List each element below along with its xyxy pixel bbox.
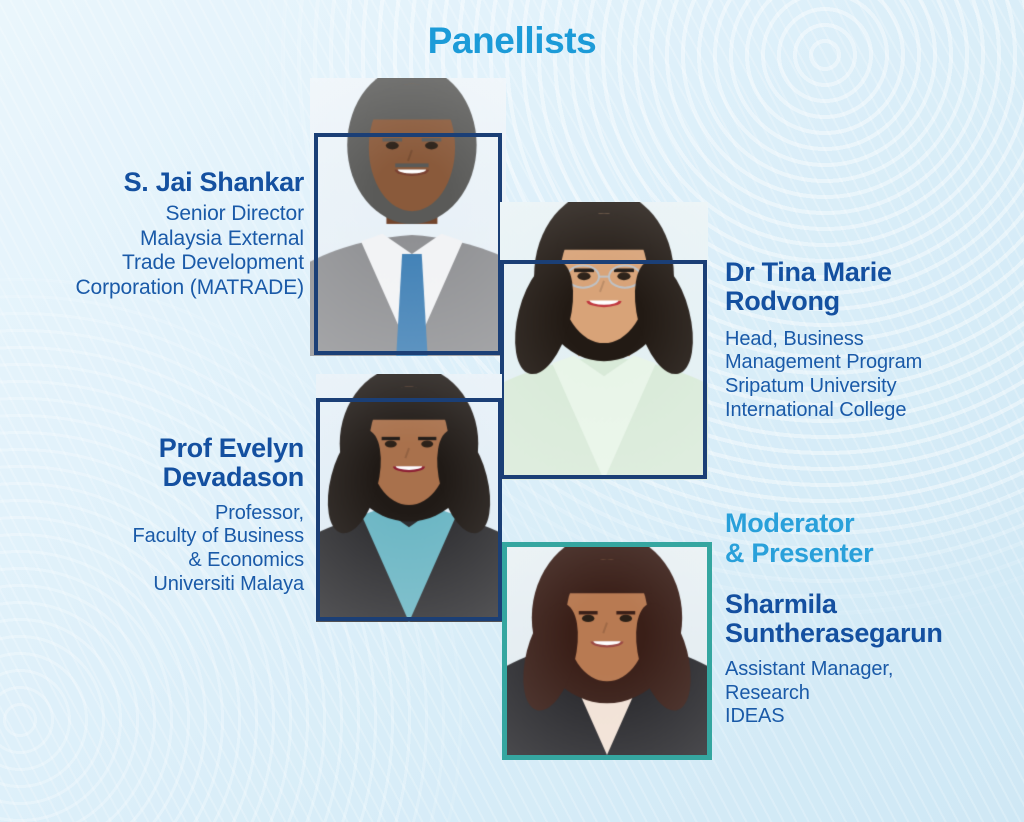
photo-frame-dr-tina-marie-rodvong (500, 260, 707, 479)
detail-line: Assistant Manager, (725, 658, 1020, 682)
role-line: Moderator (725, 509, 1020, 539)
name-line: Devadason (14, 463, 304, 492)
detail-line: Senior Director (14, 202, 304, 227)
detail-line: Sripatum University (725, 375, 1015, 399)
detail-line: International College (725, 399, 1015, 423)
name-line: Suntherasegarun (725, 619, 1020, 648)
panellist-name-s-jai-shankar: S. Jai Shankar (14, 168, 304, 197)
panellist-name-prof-evelyn-devadason: Prof Evelyn Devadason (14, 434, 304, 492)
detail-line: Faculty of Business (14, 525, 304, 549)
moderator-role-label: Moderator & Presenter (725, 509, 1020, 568)
bio-dr-tina-marie-rodvong: Dr Tina Marie Rodvong Head, Business Man… (725, 258, 1015, 422)
photo-frame-s-jai-shankar (314, 133, 502, 355)
role-line: & Presenter (725, 539, 1020, 569)
detail-line: Professor, (14, 502, 304, 526)
bio-prof-evelyn-devadason: Prof Evelyn Devadason Professor, Faculty… (14, 434, 304, 596)
detail-line: & Economics (14, 549, 304, 573)
moderator-name: Sharmila Suntherasegarun (725, 590, 1020, 648)
detail-line: Head, Business (725, 328, 1015, 352)
detail-line: Universiti Malaya (14, 573, 304, 597)
detail-line: Management Program (725, 351, 1015, 375)
detail-line: IDEAS (725, 705, 1020, 729)
panellist-details-prof-evelyn-devadason: Professor, Faculty of Business & Economi… (14, 502, 304, 596)
panellists-slide: Panellists S. Jai Shankar Senior Directo… (0, 0, 1024, 822)
detail-line: Research (725, 682, 1020, 706)
name-line: Rodvong (725, 287, 1015, 316)
moderator-details: Assistant Manager, Research IDEAS (725, 658, 1020, 729)
panellist-details-s-jai-shankar: Senior Director Malaysia External Trade … (14, 202, 304, 301)
detail-line: Trade Development (14, 251, 304, 276)
panellist-details-dr-tina-marie-rodvong: Head, Business Management Program Sripat… (725, 328, 1015, 422)
photo-frame-prof-evelyn-devadason (316, 398, 502, 621)
detail-line: Malaysia External (14, 227, 304, 252)
detail-line: Corporation (MATRADE) (14, 276, 304, 301)
name-line: Prof Evelyn (14, 434, 304, 463)
photo-frame-sharmila-suntherasegarun (502, 542, 712, 760)
name-line: Sharmila (725, 590, 1020, 619)
bio-s-jai-shankar: S. Jai Shankar Senior Director Malaysia … (14, 168, 304, 301)
panellist-name-dr-tina-marie-rodvong: Dr Tina Marie Rodvong (725, 258, 1015, 316)
name-line: Dr Tina Marie (725, 258, 1015, 287)
bio-sharmila-suntherasegarun: Moderator & Presenter Sharmila Suntheras… (725, 509, 1020, 729)
page-title: Panellists (0, 22, 1024, 59)
